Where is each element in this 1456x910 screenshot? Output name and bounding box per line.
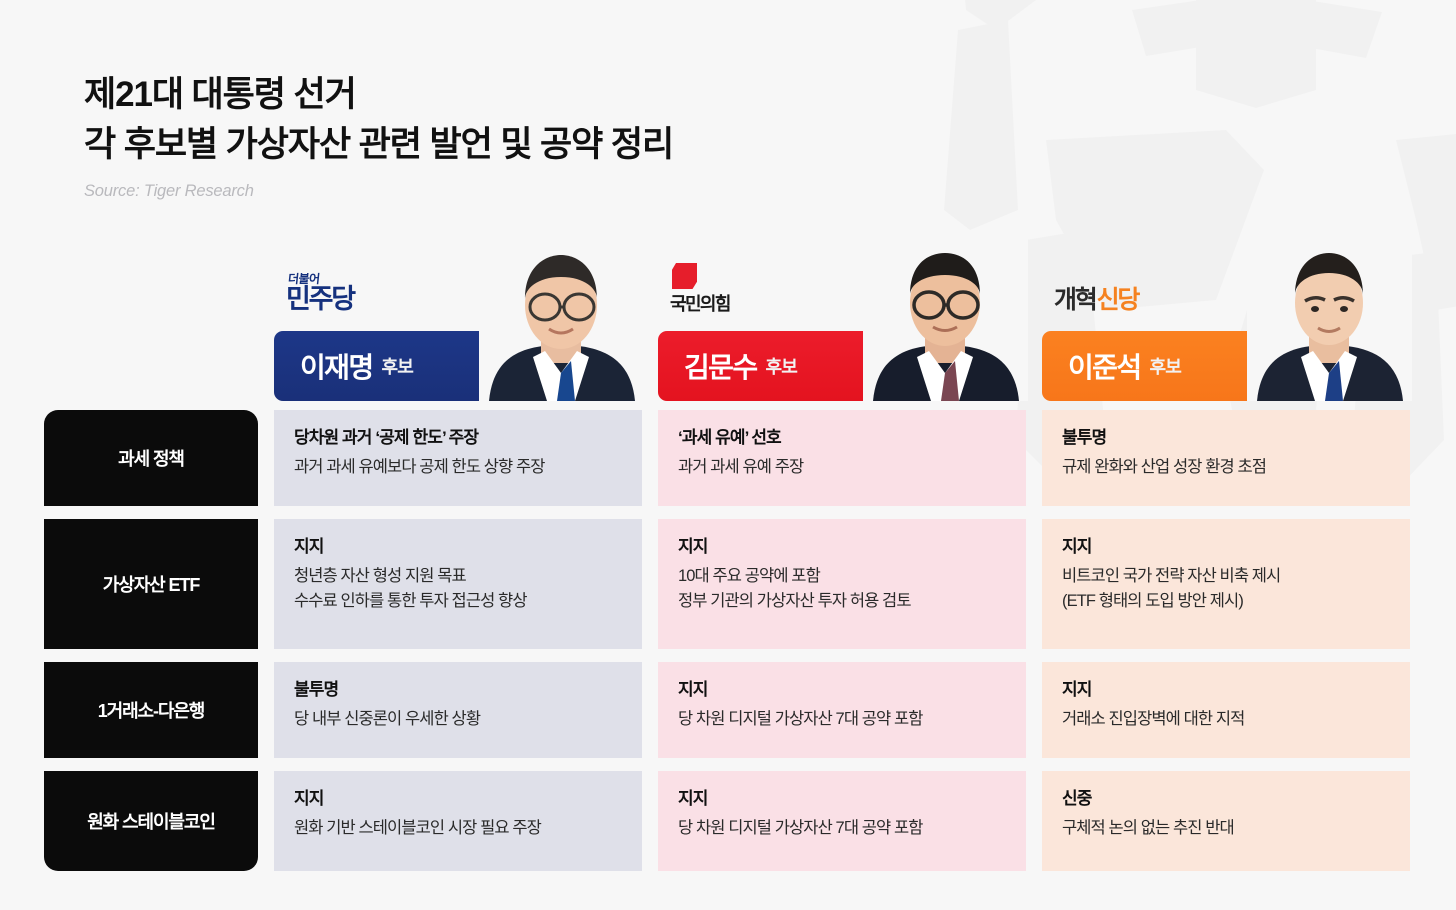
candidate-header-lee-jae-myung: 더불어 민주당 이재명 후보 — [274, 231, 642, 401]
cell-detail: (ETF 형태의 도입 방안 제시) — [1062, 589, 1410, 614]
cell-detail: 당 내부 신중론이 우세한 상황 — [294, 707, 642, 732]
cell-stance: 불투명 — [1062, 427, 1410, 448]
row-label-one-exchange-multi-bank: 1거래소-다은행 — [44, 662, 258, 758]
table-cell: 지지 당 차원 디지털 가상자산 7대 공약 포함 — [658, 662, 1026, 758]
table-cell: 지지 10대 주요 공약에 포함 정부 기관의 가상자산 투자 허용 검토 — [658, 519, 1026, 649]
table-cell: 지지 거래소 진입장벽에 대한 지적 — [1042, 662, 1410, 758]
table-cell: 불투명 당 내부 신중론이 우세한 상황 — [274, 662, 642, 758]
democratic-party-logo: 더불어 민주당 — [286, 265, 354, 313]
candidate-photo — [1247, 233, 1412, 401]
cell-stance: ‘과세 유예’ 선호 — [678, 427, 1026, 448]
cell-stance: 불투명 — [294, 679, 642, 700]
cell-detail: 당 차원 디지털 가상자산 7대 공약 포함 — [678, 707, 1026, 732]
candidate-name: 이준석 — [1068, 346, 1140, 386]
candidate-name: 김문수 — [684, 346, 756, 386]
table-cell: 신중 구체적 논의 없는 추진 반대 — [1042, 771, 1410, 871]
party-logo-main-text: 민주당 — [286, 286, 354, 313]
candidate-suffix: 후보 — [1149, 353, 1181, 379]
table-cell: 지지 청년층 자산 형성 지원 목표 수수료 인하를 통한 투자 접근성 향상 — [274, 519, 642, 649]
cell-stance: 당차원 과거 ‘공제 한도’ 주장 — [294, 427, 642, 448]
candidate-header-lee-jun-seok: 개혁 신당 이준석 후보 — [1042, 231, 1410, 401]
candidate-name: 이재명 — [300, 346, 372, 386]
table-cell: 지지 당 차원 디지털 가상자산 7대 공약 포함 — [658, 771, 1026, 871]
candidate-photo — [479, 233, 644, 401]
row-label-won-stablecoin: 원화 스테이블코인 — [44, 771, 258, 871]
reform-party-logo: 개혁 신당 — [1054, 265, 1138, 313]
candidate-suffix: 후보 — [765, 353, 797, 379]
cell-detail: 규제 완화와 산업 성장 환경 초점 — [1062, 455, 1410, 480]
cell-detail: 10대 주요 공약에 포함 — [678, 564, 1026, 589]
cell-detail: 과거 과세 유예보다 공제 한도 상향 주장 — [294, 455, 642, 480]
candidate-photo — [863, 233, 1028, 401]
candidate-header-kim-moon-soo: 국민의힘 김문수 후보 — [658, 231, 1026, 401]
cell-stance: 지지 — [678, 788, 1026, 809]
cell-stance: 지지 — [294, 536, 642, 557]
page-header: 제21대 대통령 선거 각 후보별 가상자산 관련 발언 및 공약 정리 Sou… — [84, 70, 673, 201]
party-logo-top-text: 더불어 — [287, 273, 320, 285]
cell-stance: 지지 — [1062, 536, 1410, 557]
page-title-line-2: 각 후보별 가상자산 관련 발언 및 공약 정리 — [84, 120, 673, 170]
party-logo-main-text: 신당 — [1097, 288, 1139, 313]
table-cell: ‘과세 유예’ 선호 과거 과세 유예 주장 — [658, 410, 1026, 506]
table-cell: 당차원 과거 ‘공제 한도’ 주장 과거 과세 유예보다 공제 한도 상향 주장 — [274, 410, 642, 506]
table-cell: 불투명 규제 완화와 산업 성장 환경 초점 — [1042, 410, 1410, 506]
cell-detail: 수수료 인하를 통한 투자 접근성 향상 — [294, 589, 642, 614]
ppp-mark-icon — [672, 263, 697, 289]
cell-stance: 지지 — [678, 536, 1026, 557]
cell-detail: 거래소 진입장벽에 대한 지적 — [1062, 707, 1410, 732]
cell-detail: 당 차원 디지털 가상자산 7대 공약 포함 — [678, 816, 1026, 841]
table-cell: 지지 원화 기반 스테이블코인 시장 필요 주장 — [274, 771, 642, 871]
infographic-page: 제21대 대통령 선거 각 후보별 가상자산 관련 발언 및 공약 정리 Sou… — [0, 0, 1456, 910]
row-label-taxation: 과세 정책 — [44, 410, 258, 506]
source-credit: Source: Tiger Research — [84, 182, 673, 201]
cell-detail: 비트코인 국가 전략 자산 비축 제시 — [1062, 564, 1410, 589]
cell-detail: 과거 과세 유예 주장 — [678, 455, 1026, 480]
cell-detail: 구체적 논의 없는 추진 반대 — [1062, 816, 1410, 841]
cell-detail: 정부 기관의 가상자산 투자 허용 검토 — [678, 589, 1026, 614]
candidate-suffix: 후보 — [381, 353, 413, 379]
cell-stance: 지지 — [1062, 679, 1410, 700]
people-power-party-logo: 국민의힘 — [670, 265, 730, 313]
party-logo-main-text: 국민의힘 — [670, 295, 730, 313]
cell-stance: 지지 — [294, 788, 642, 809]
table-cell: 지지 비트코인 국가 전략 자산 비축 제시 (ETF 형태의 도입 방안 제시… — [1042, 519, 1410, 649]
cell-detail: 청년층 자산 형성 지원 목표 — [294, 564, 642, 589]
cell-detail: 원화 기반 스테이블코인 시장 필요 주장 — [294, 816, 642, 841]
row-label-crypto-etf: 가상자산 ETF — [44, 519, 258, 649]
cell-stance: 신중 — [1062, 788, 1410, 809]
cell-stance: 지지 — [678, 679, 1026, 700]
page-title-line-1: 제21대 대통령 선거 — [84, 70, 673, 120]
party-logo-top-text: 개혁 — [1054, 288, 1096, 313]
